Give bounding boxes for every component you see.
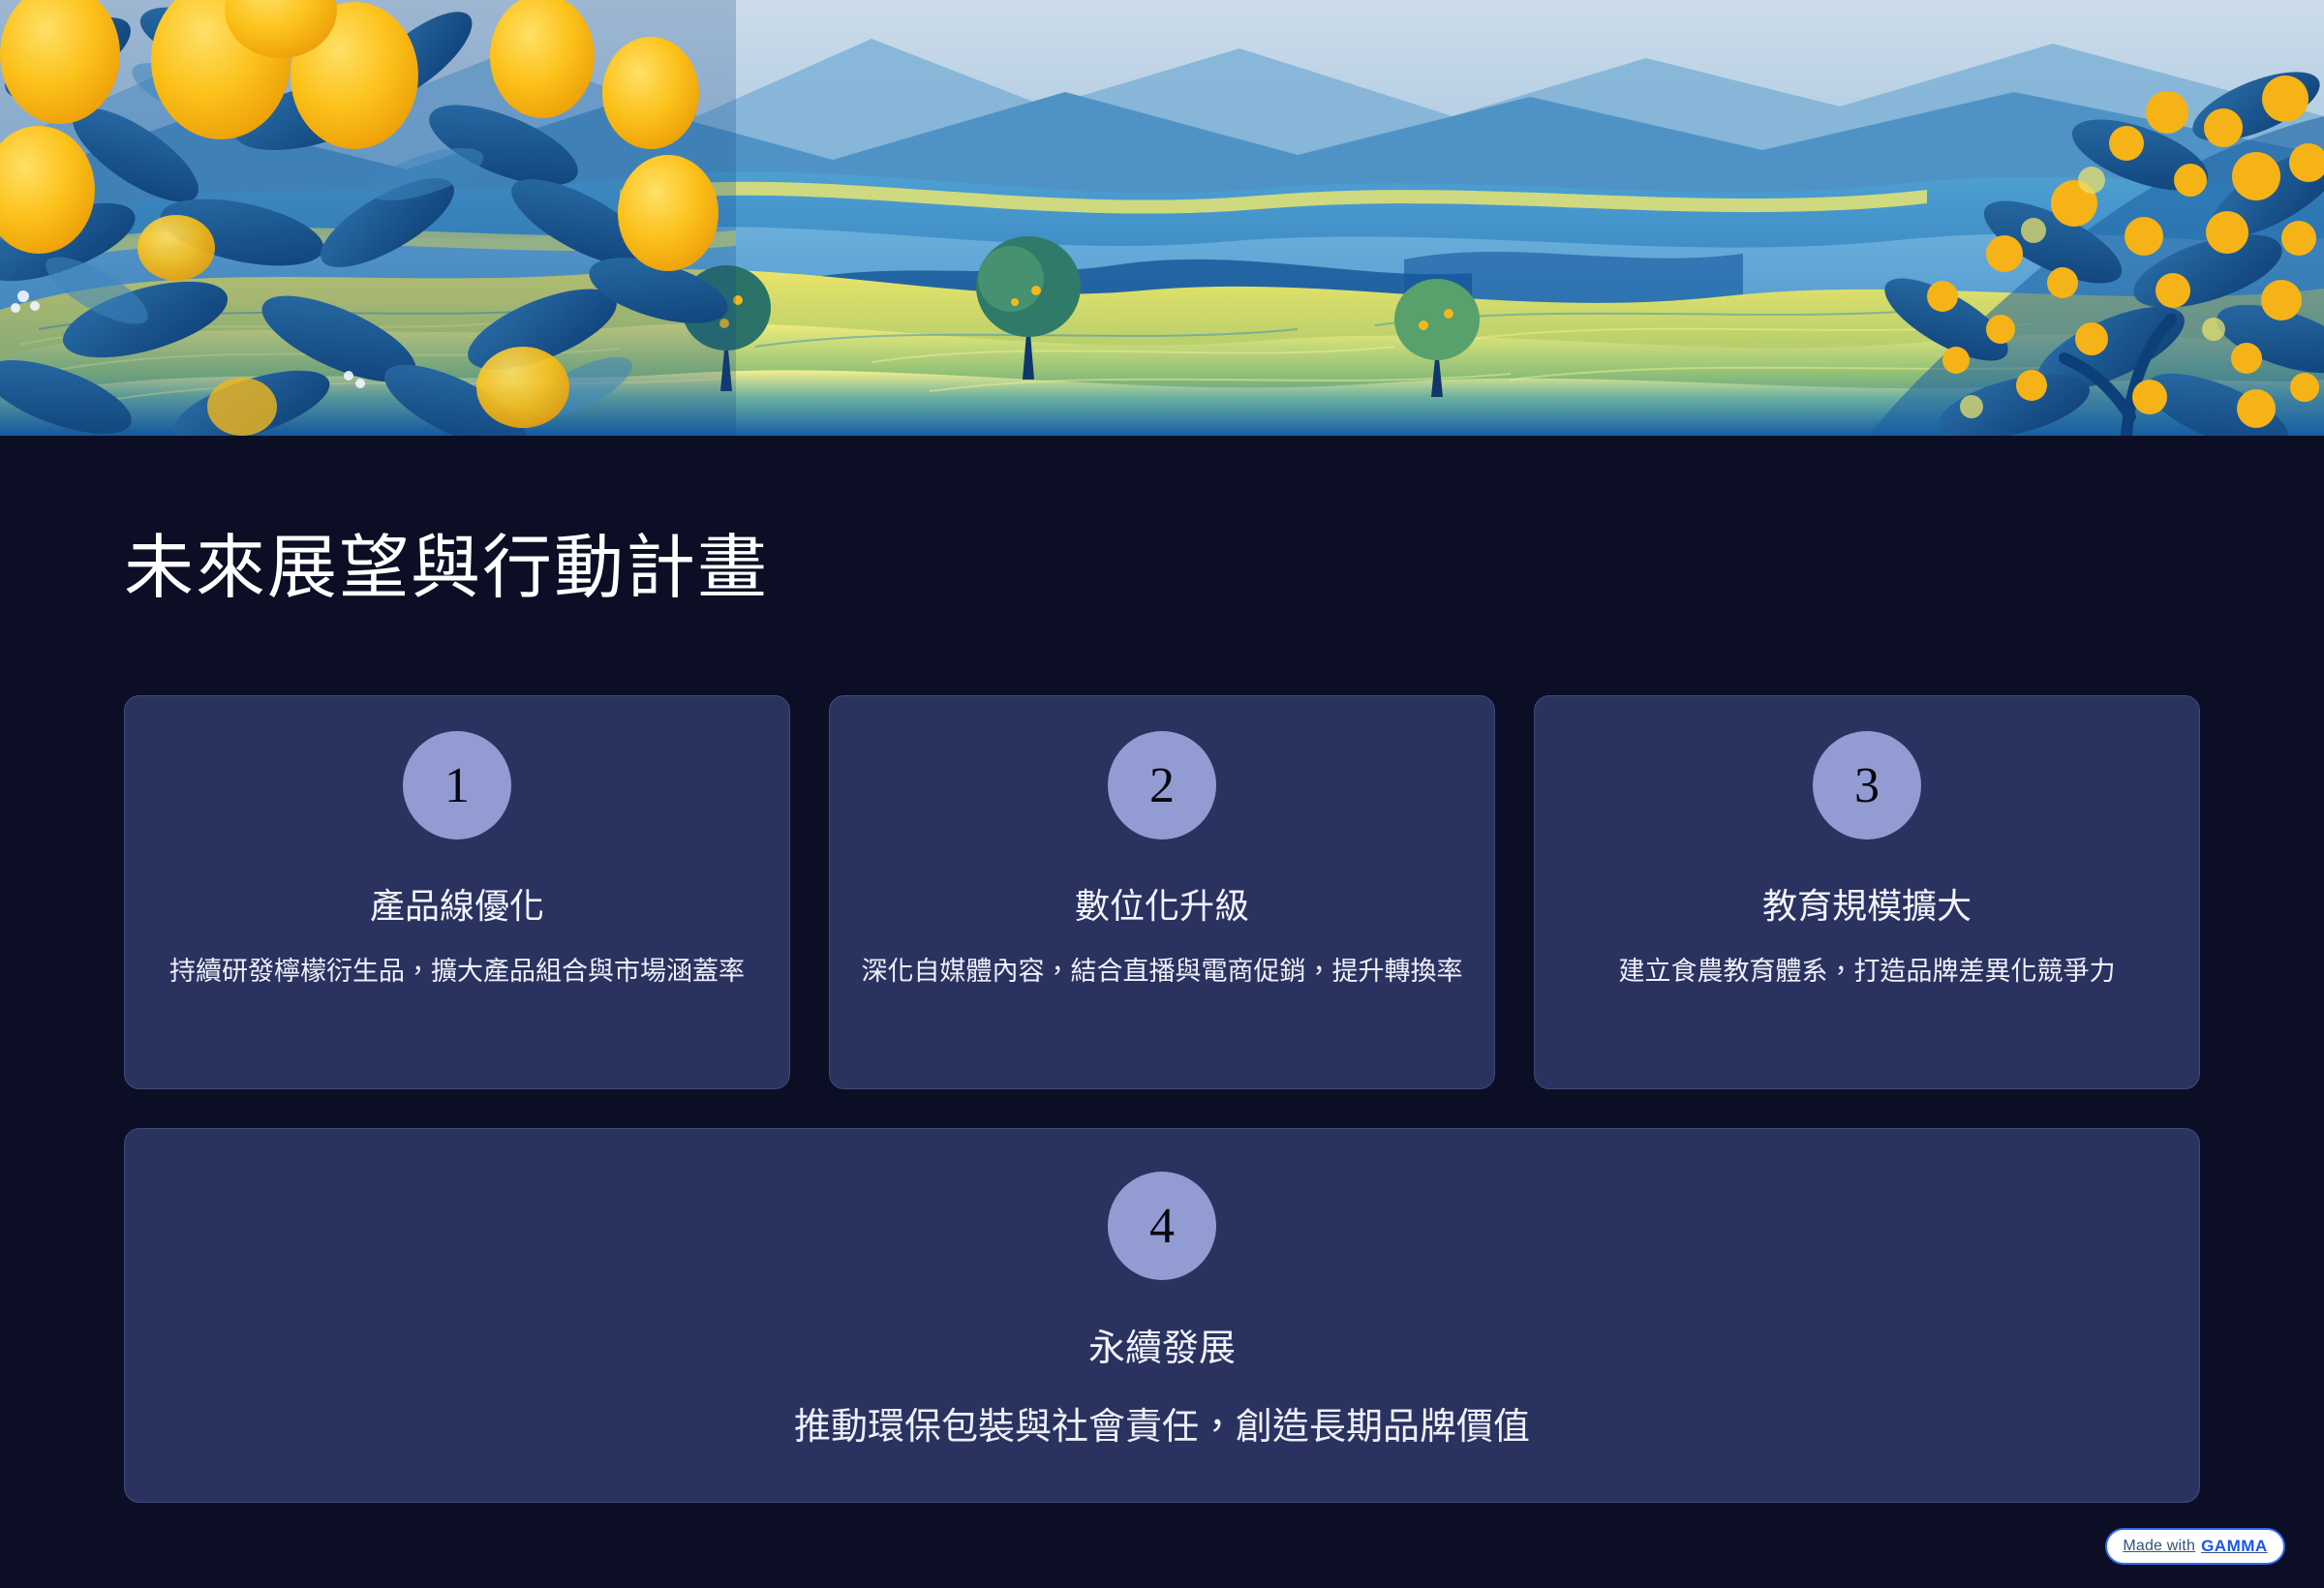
card-number-badge-4: 4 (1108, 1172, 1216, 1280)
card-title-1: 產品線優化 (370, 884, 544, 928)
card-body-1: 持續研發檸檬衍生品，擴大產品組合與市場涵蓋率 (169, 951, 745, 993)
card-body-3: 建立食農教育體系，打造品牌差異化競爭力 (1619, 951, 2116, 993)
card-title-4: 永續發展 (1088, 1327, 1236, 1373)
gamma-wordmark: GAMMA (2201, 1537, 2268, 1556)
card-body-2: 深化自媒體內容，結合直播與電商促銷，提升轉換率 (862, 951, 1463, 993)
action-card-3[interactable]: 3 教育規模擴大 建立食農教育體系，打造品牌差異化競爭力 (1534, 695, 2200, 1089)
card-number-badge-2: 2 (1108, 731, 1216, 840)
action-card-2[interactable]: 2 數位化升級 深化自媒體內容，結合直播與電商促銷，提升轉換率 (829, 695, 1495, 1089)
hero-illustration (0, 0, 2324, 436)
slide-content: 未來展望與行動計畫 1 產品線優化 持續研發檸檬衍生品，擴大產品組合與市場涵蓋率… (0, 436, 2324, 1588)
made-with-gamma-badge[interactable]: Made with GAMMA (2105, 1528, 2285, 1565)
card-title-3: 教育規模擴大 (1762, 884, 1972, 928)
action-card-1[interactable]: 1 產品線優化 持續研發檸檬衍生品，擴大產品組合與市場涵蓋率 (124, 695, 790, 1089)
card-title-2: 數位化升級 (1075, 884, 1249, 928)
hero-image (0, 0, 2324, 436)
action-card-grid: 1 產品線優化 持續研發檸檬衍生品，擴大產品組合與市場涵蓋率 2 數位化升級 深… (124, 695, 2200, 1089)
made-with-label: Made with (2123, 1538, 2195, 1555)
action-card-4[interactable]: 4 永續發展 推動環保包裝與社會責任，創造長期品牌價值 (124, 1128, 2200, 1503)
card-number-badge-1: 1 (403, 731, 511, 840)
page-title: 未來展望與行動計畫 (124, 533, 769, 606)
card-number-badge-3: 3 (1813, 731, 1921, 840)
card-body-4: 推動環保包裝與社會責任，創造長期品牌價值 (794, 1400, 1530, 1455)
